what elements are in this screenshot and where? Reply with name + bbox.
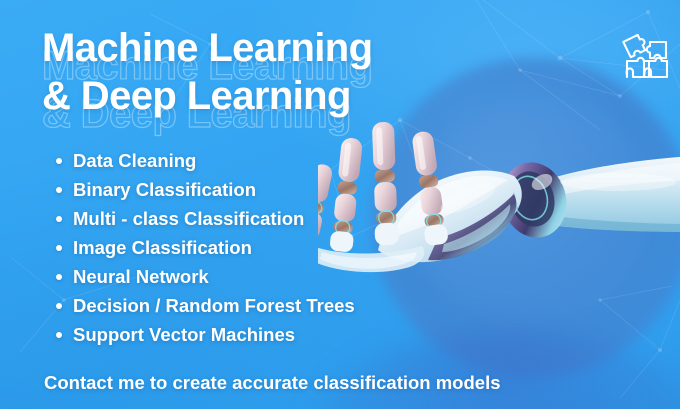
vignette-overlay: [0, 0, 680, 409]
ml-promo-banner: Machine Learning Machine Learning & Deep…: [0, 0, 680, 409]
